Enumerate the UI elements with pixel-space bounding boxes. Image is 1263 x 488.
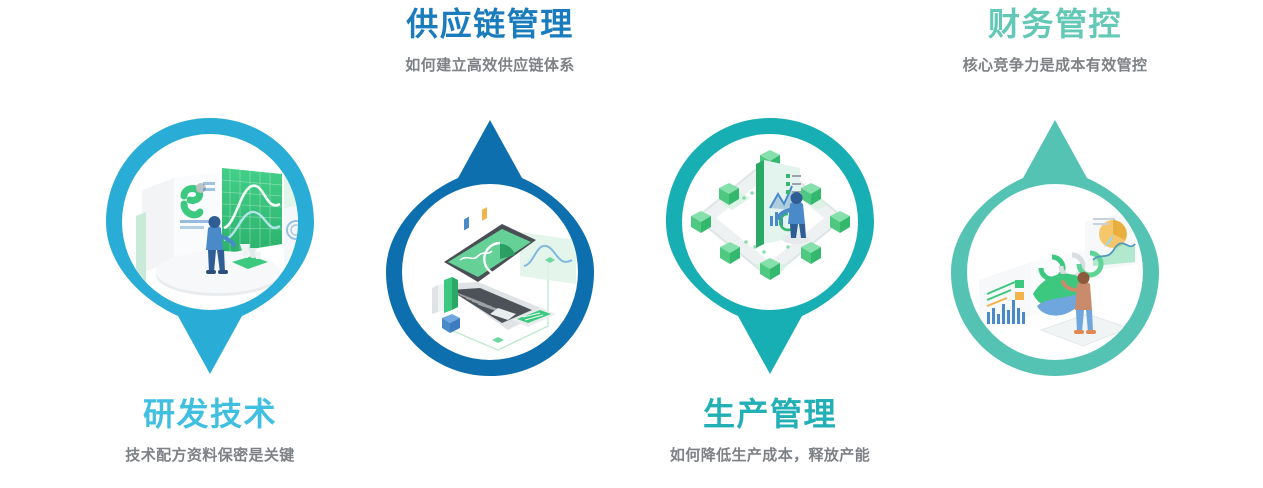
text-block-production-management: 生产管理 如何降低生产成本，释放产能	[620, 396, 920, 465]
pin-card-supply-chain[interactable]: 供应链管理 如何建立高效供应链体系	[340, 0, 640, 488]
pin-graphic-financial-control[interactable]	[945, 114, 1165, 382]
pin-title-financial-control: 财务管控	[905, 6, 1205, 44]
pin-card-financial-control[interactable]: 财务管控 核心竞争力是成本有效管控	[905, 0, 1205, 488]
text-block-rd-technology: 研发技术 技术配方资料保密是关键	[60, 396, 360, 465]
pin-graphic-rd-technology[interactable]	[100, 112, 320, 380]
pin-card-production-management[interactable]: 生产管理 如何降低生产成本，释放产能	[620, 0, 920, 488]
pin-subtitle-financial-control: 核心竞争力是成本有效管控	[905, 54, 1205, 75]
pin-subtitle-supply-chain: 如何建立高效供应链体系	[340, 54, 640, 75]
pin-title-rd-technology: 研发技术	[60, 396, 360, 434]
pin-title-production-management: 生产管理	[620, 396, 920, 434]
infographic-container: 研发技术 技术配方资料保密是关键 供应链管理 如何建立高效供应链体系	[0, 0, 1263, 488]
pin-card-rd-technology[interactable]: 研发技术 技术配方资料保密是关键	[60, 0, 360, 488]
pin-subtitle-rd-technology: 技术配方资料保密是关键	[60, 444, 360, 465]
pin-title-supply-chain: 供应链管理	[340, 6, 640, 44]
text-block-financial-control: 财务管控 核心竞争力是成本有效管控	[905, 6, 1205, 75]
pin-subtitle-production-management: 如何降低生产成本，释放产能	[620, 444, 920, 465]
pin-graphic-supply-chain[interactable]	[380, 114, 600, 382]
text-block-supply-chain: 供应链管理 如何建立高效供应链体系	[340, 6, 640, 75]
pin-graphic-production-management[interactable]	[660, 112, 880, 380]
